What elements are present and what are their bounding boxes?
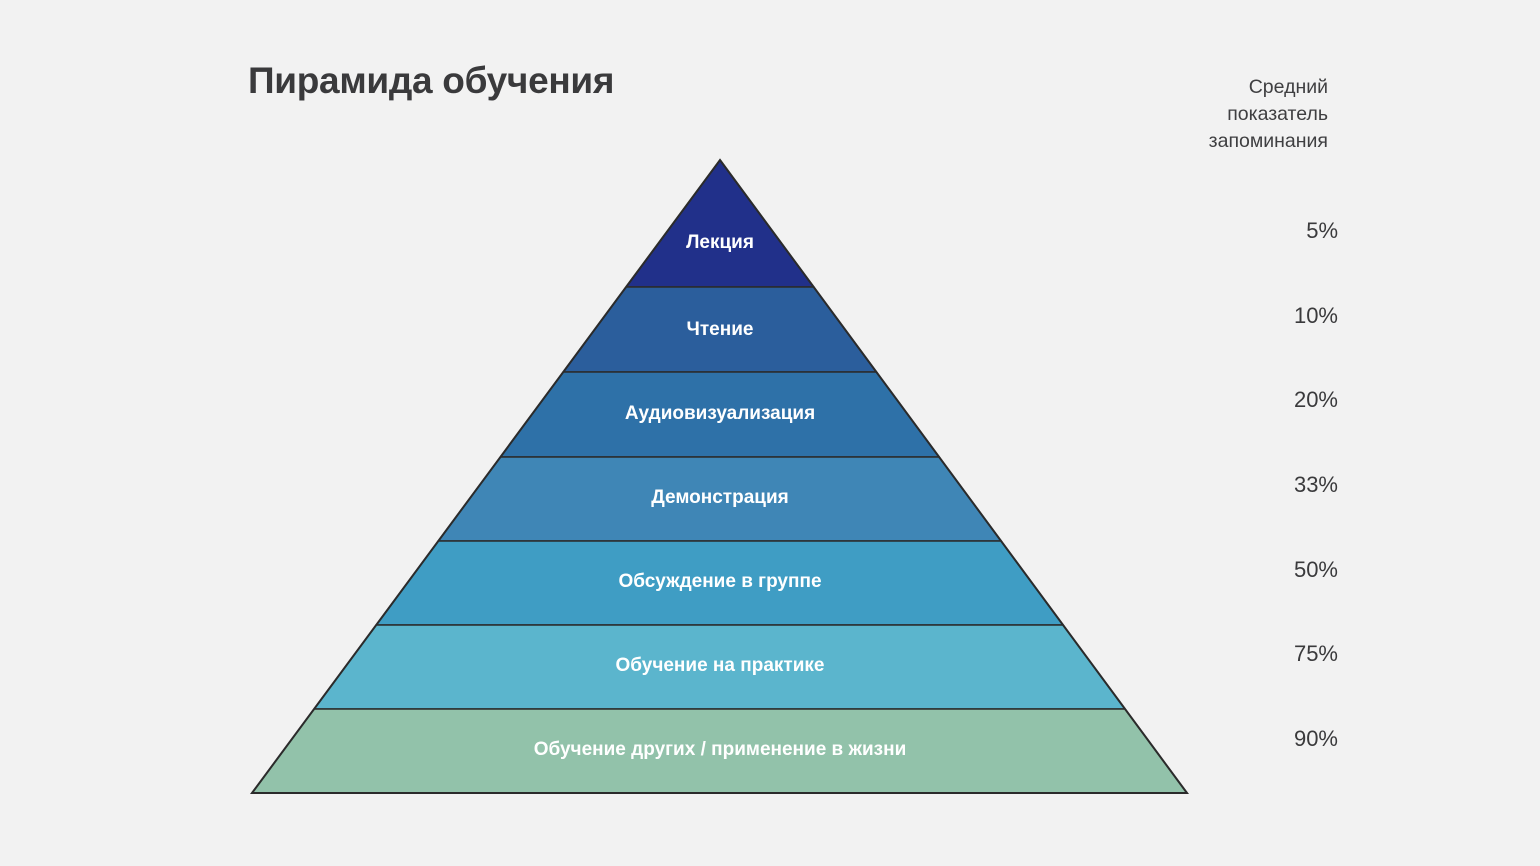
diagram-canvas: Пирамида обучения Средний показатель зап…: [0, 0, 1540, 866]
retention-percent-value: 10%: [1248, 303, 1338, 329]
pyramid-tier-label: Обучение других / применение в жизни: [534, 739, 907, 760]
pyramid-tier-group: [252, 160, 1187, 793]
pyramid-tier-label: Обсуждение в группе: [618, 571, 821, 592]
pyramid-tier-label: Обучение на практике: [616, 655, 825, 676]
pyramid-tier-label: Демонстрация: [651, 487, 788, 508]
pyramid-tier-label: Аудиовизуализация: [625, 403, 815, 424]
retention-percent-value: 90%: [1248, 726, 1338, 752]
retention-percent-value: 20%: [1248, 387, 1338, 413]
retention-percent-value: 5%: [1248, 218, 1338, 244]
retention-percent-value: 50%: [1248, 557, 1338, 583]
retention-percent-value: 75%: [1248, 641, 1338, 667]
pyramid-tier[interactable]: [626, 160, 814, 287]
pyramid-tier-label: Лекция: [686, 232, 754, 253]
retention-percent-value: 33%: [1248, 472, 1338, 498]
pyramid-tier-label: Чтение: [687, 319, 754, 340]
